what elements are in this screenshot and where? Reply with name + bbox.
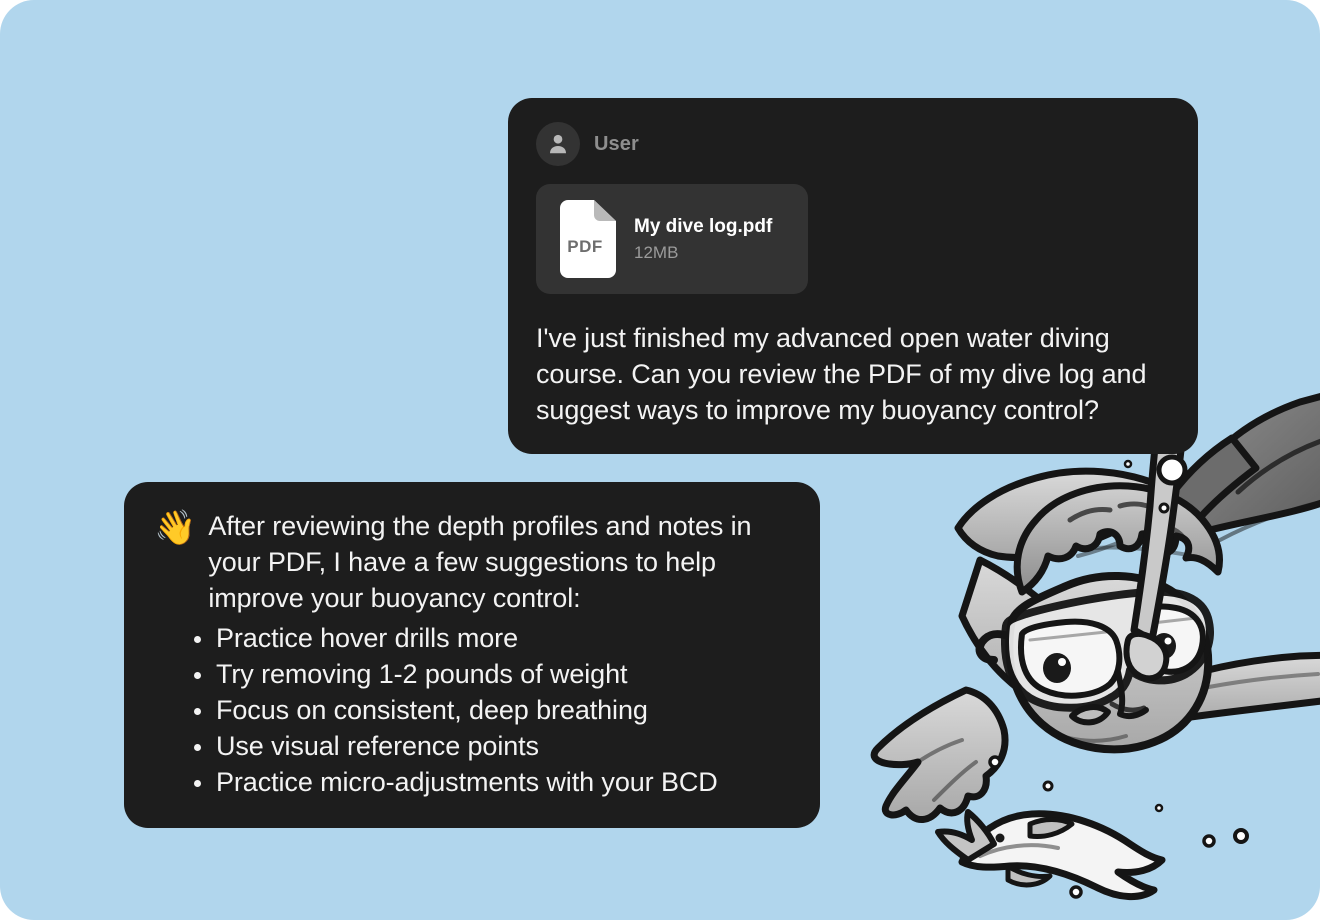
suggestion-list: Practice hover drills moreTry removing 1…	[154, 620, 790, 800]
waving-hand-emoji: 👋	[154, 510, 196, 546]
user-message-header: User	[536, 122, 1170, 166]
person-avatar-icon	[536, 122, 580, 166]
suggestion-item: Practice hover drills more	[186, 620, 790, 656]
suggestion-item: Practice micro-adjustments with your BCD	[186, 764, 790, 800]
pdf-file-icon: PDF	[554, 200, 616, 278]
chat-scene: User PDF My dive log.pdf 12MB I've just …	[0, 0, 1320, 920]
suggestion-item: Try removing 1-2 pounds of weight	[186, 656, 790, 692]
assistant-intro-text: After reviewing the depth profiles and n…	[208, 508, 790, 616]
suggestion-item: Use visual reference points	[186, 728, 790, 764]
user-message-text: I've just finished my advanced open wate…	[536, 320, 1170, 428]
pdf-attachment-card[interactable]: PDF My dive log.pdf 12MB	[536, 184, 808, 294]
assistant-intro-row: 👋 After reviewing the depth profiles and…	[154, 508, 790, 616]
user-message-bubble: User PDF My dive log.pdf 12MB I've just …	[508, 98, 1198, 454]
suggestion-item: Focus on consistent, deep breathing	[186, 692, 790, 728]
svg-text:PDF: PDF	[567, 237, 603, 256]
assistant-message-bubble: 👋 After reviewing the depth profiles and…	[124, 482, 820, 828]
attachment-file-size: 12MB	[634, 243, 772, 263]
message-author-label: User	[594, 133, 639, 156]
attachment-file-name: My dive log.pdf	[634, 216, 772, 238]
